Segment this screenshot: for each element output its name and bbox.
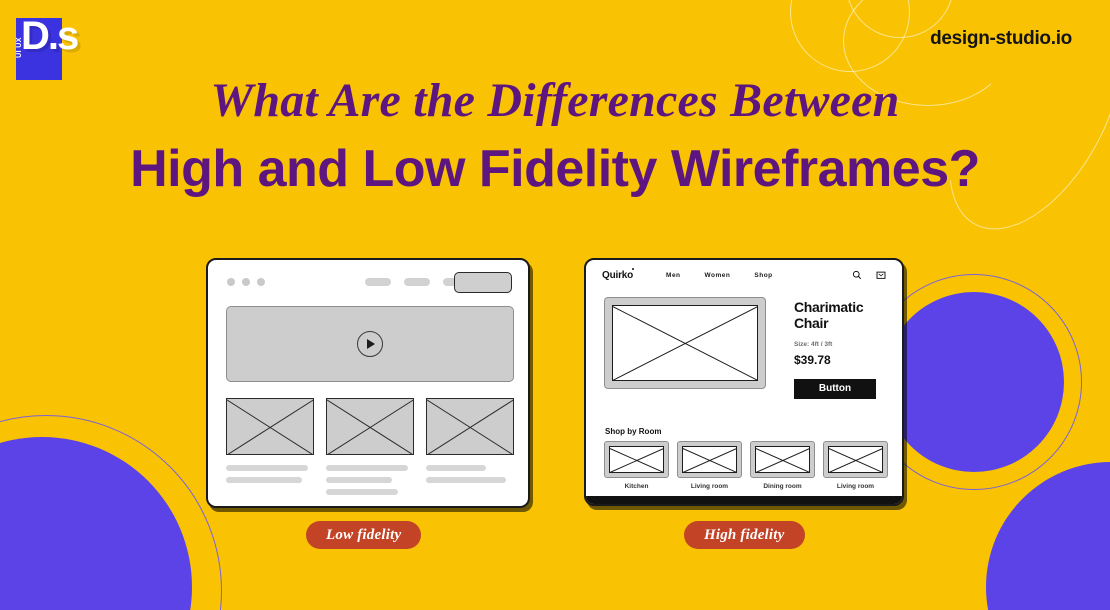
purple-circle-right	[884, 292, 1064, 472]
room-image-placeholder	[750, 441, 815, 478]
logo-mark[interactable]: UI UX D.s	[16, 18, 62, 80]
lofi-hero-video[interactable]	[226, 306, 514, 382]
image-placeholder[interactable]	[426, 398, 514, 455]
hifi-nav-item-men[interactable]: Men	[666, 272, 681, 279]
poster-canvas: UI UX D.s design-studio.io What Are the …	[0, 0, 1110, 610]
hifi-footer-bar	[586, 496, 902, 504]
high-fidelity-caption: High fidelity	[684, 521, 805, 549]
bag-icon[interactable]	[876, 270, 886, 280]
hifi-header: Quirko Men Women Shop	[586, 260, 902, 290]
text-placeholder-column	[226, 465, 314, 495]
outline-ring-bottom-left	[0, 415, 222, 610]
lofi-header	[208, 260, 528, 304]
lofi-text-row	[226, 465, 514, 495]
room-image-placeholder	[823, 441, 888, 478]
shop-by-room-grid: Kitchen Living room Dining room Living r…	[604, 441, 888, 490]
text-line	[326, 489, 398, 495]
text-line	[326, 465, 408, 471]
room-image-placeholder	[604, 441, 669, 478]
headline-line-1: What Are the Differences Between	[0, 76, 1110, 126]
image-placeholder[interactable]	[226, 398, 314, 455]
product-title: Charimatic Chair	[794, 300, 898, 332]
room-image-placeholder	[677, 441, 742, 478]
text-line	[226, 477, 302, 483]
lofi-cta-button[interactable]	[454, 272, 512, 293]
text-line	[326, 477, 392, 483]
text-placeholder-column	[426, 465, 514, 495]
low-fidelity-wireframe	[206, 258, 530, 508]
room-card[interactable]: Kitchen	[604, 441, 669, 490]
window-dot	[257, 278, 265, 286]
hifi-header-icons	[852, 270, 886, 280]
hifi-nav-item-shop[interactable]: Shop	[754, 272, 772, 279]
room-card[interactable]: Living room	[823, 441, 888, 490]
room-card[interactable]: Living room	[677, 441, 742, 490]
purple-circle-bottom-right	[986, 462, 1110, 610]
headline-block: What Are the Differences Between High an…	[0, 76, 1110, 197]
room-label: Living room	[677, 483, 742, 490]
nav-pill[interactable]	[404, 278, 430, 286]
play-icon[interactable]	[357, 331, 383, 357]
window-dot	[227, 278, 235, 286]
low-fidelity-caption: Low fidelity	[306, 521, 421, 549]
nav-pill[interactable]	[365, 278, 391, 286]
text-placeholder-column	[326, 465, 414, 495]
product-size: Size: 4ft / 3ft	[794, 341, 898, 348]
headline-line-2: High and Low Fidelity Wireframes?	[0, 142, 1110, 197]
logo-initials: D.s	[21, 16, 77, 56]
product-image-placeholder[interactable]	[604, 297, 766, 389]
product-cta-button[interactable]: Button	[794, 379, 876, 399]
site-url: design-studio.io	[930, 28, 1072, 50]
text-line	[426, 465, 486, 471]
room-card[interactable]: Dining room	[750, 441, 815, 490]
hifi-nav-item-women[interactable]: Women	[705, 272, 731, 279]
search-icon[interactable]	[852, 270, 862, 280]
hifi-nav: Men Women Shop	[666, 272, 773, 279]
lofi-thumbnail-row	[226, 398, 514, 455]
image-placeholder[interactable]	[326, 398, 414, 455]
room-label: Kitchen	[604, 483, 669, 490]
text-line	[426, 477, 506, 483]
room-label: Dining room	[750, 483, 815, 490]
product-info: Charimatic Chair Size: 4ft / 3ft $39.78 …	[794, 300, 898, 399]
thin-circle-line-one	[790, 0, 910, 72]
product-price: $39.78	[794, 353, 898, 367]
room-label: Living room	[823, 483, 888, 490]
window-dot	[242, 278, 250, 286]
purple-circle-bottom-left	[0, 437, 192, 610]
hifi-brand-name[interactable]: Quirko	[602, 270, 633, 281]
shop-by-room-title: Shop by Room	[605, 427, 661, 436]
high-fidelity-wireframe: Quirko Men Women Shop Charimatic	[584, 258, 904, 506]
text-line	[226, 465, 308, 471]
lofi-window-dots	[227, 278, 265, 286]
